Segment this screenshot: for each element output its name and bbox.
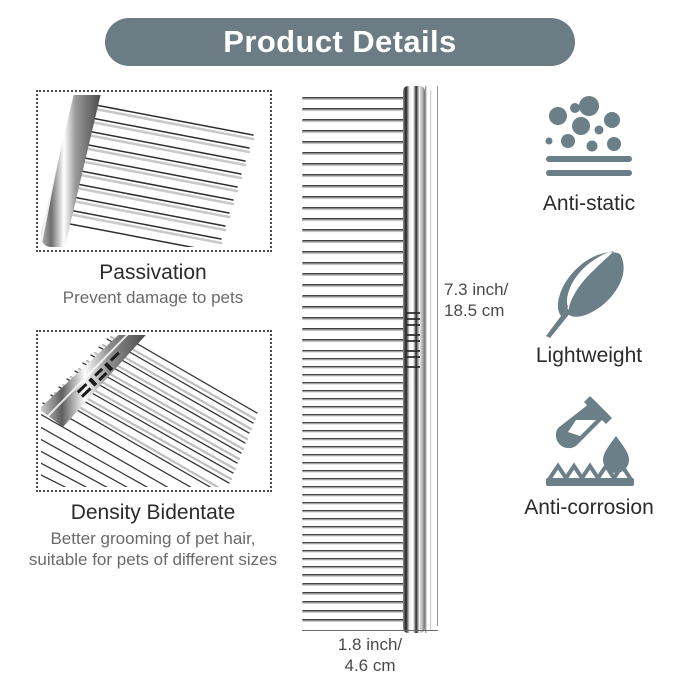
dense-comb-teeth-illustration [41,335,267,487]
detail-title-density-bidentate: Density Bidentate [18,501,288,525]
anti-corrosion-icon [530,394,648,494]
page-title-banner: Product Details [105,18,575,66]
feature-label-lightweight: Lightweight [500,344,678,368]
feature-anti-corrosion: Anti-corrosion [500,396,678,520]
feature-label-anti-corrosion: Anti-corrosion [500,496,678,520]
comb-spine [403,86,425,633]
comb-illustration [296,84,446,644]
anti-static-icon [534,94,644,186]
detail-card-density-bidentate: Density Bidentate Better grooming of pet… [18,330,288,570]
detail-subtitle-passivation: Prevent damage to pets [18,287,288,308]
height-dimension-label: 7.3 inch/ 18.5 cm [444,279,508,322]
left-details-column: Passivation Prevent damage to pets [18,90,288,570]
detail-image-density-bidentate [36,330,272,492]
width-measure-line [302,630,438,631]
comb-teeth-fine [302,350,406,622]
feature-lightweight: Lightweight [500,244,678,368]
feature-anti-static: Anti-static [500,92,678,216]
detail-card-passivation: Passivation Prevent damage to pets [18,90,288,308]
detail-image-passivation [36,90,272,252]
comb-teeth-coarse [302,97,406,342]
width-dimension-label: 1.8 inch/ 4.6 cm [300,630,440,677]
height-measure-line [437,86,438,626]
feather-icon [534,244,644,340]
feature-label-anti-static: Anti-static [500,192,678,216]
comb-teeth-closeup-illustration [41,95,267,247]
features-column: Anti-static Lightweight [500,92,678,520]
detail-title-passivation: Passivation [18,261,288,285]
detail-subtitle-density-bidentate: Better grooming of pet hair, suitable fo… [18,528,288,571]
page-title: Product Details [223,24,456,60]
product-image [296,84,446,644]
